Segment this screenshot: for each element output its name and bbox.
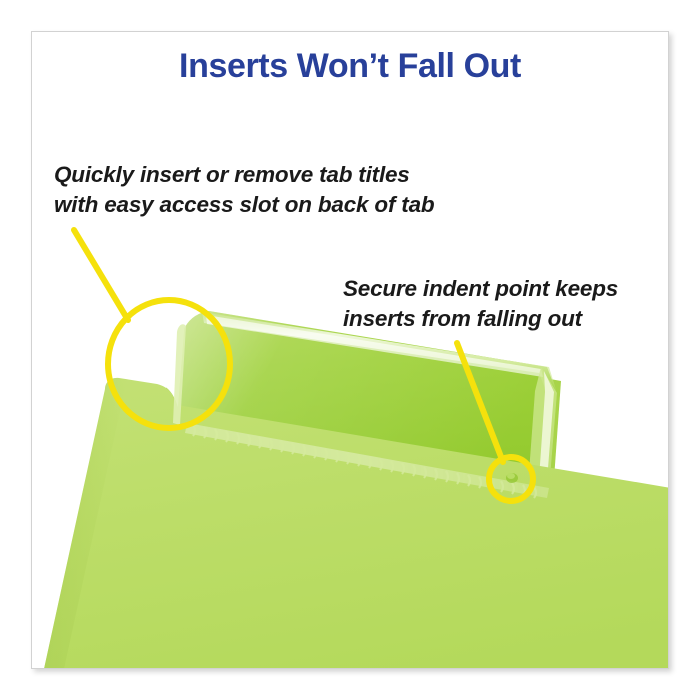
- page-title: Inserts Won’t Fall Out: [0, 47, 700, 85]
- callout-left-text: Quickly insert or remove tab titles with…: [54, 160, 434, 219]
- callout-left-leader-line: [74, 230, 128, 320]
- callout-right-line-2: inserts from falling out: [343, 304, 618, 334]
- callout-pointer-layer: [31, 31, 669, 669]
- callout-left-line-1: Quickly insert or remove tab titles: [54, 160, 434, 190]
- callout-right-line-1: Secure indent point keeps: [343, 274, 618, 304]
- callout-left-line-2: with easy access slot on back of tab: [54, 190, 434, 220]
- callout-right-highlight-circle: [489, 457, 533, 501]
- photo-frame: [31, 31, 669, 669]
- callout-right-text: Secure indent point keeps inserts from f…: [343, 274, 618, 333]
- callout-left-highlight-ellipse: [108, 300, 230, 428]
- product-feature-image: Inserts Won’t Fall Out Quickly insert or…: [0, 0, 700, 700]
- callout-right-leader-line: [457, 343, 503, 462]
